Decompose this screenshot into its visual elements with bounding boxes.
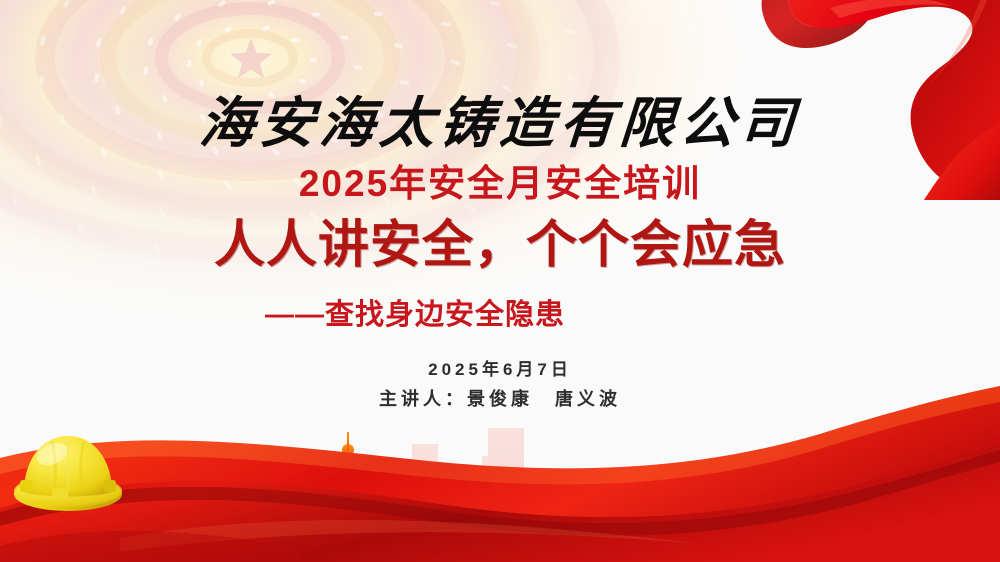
sub-slogan: ——查找身边安全隐患 (0, 291, 1000, 333)
presentation-date: 2025年6月7日 (0, 355, 1000, 380)
company-name: 海安海太铸造有限公司 (0, 78, 1000, 158)
safety-helmet-icon (8, 424, 128, 516)
training-subtitle: 2025年安全月安全培训 (0, 153, 1000, 207)
presenter-names: 主讲人：景俊康 唐义波 (0, 385, 1000, 411)
title-block: 海安海太铸造有限公司 2025年安全月安全培训 人人讲安全，个个会应急 ——查找… (0, 0, 1000, 420)
main-slogan: 人人讲安全，个个会应急 (0, 203, 1000, 277)
presentation-slide: 海安海太铸造有限公司 2025年安全月安全培训 人人讲安全，个个会应急 ——查找… (0, 0, 1000, 562)
